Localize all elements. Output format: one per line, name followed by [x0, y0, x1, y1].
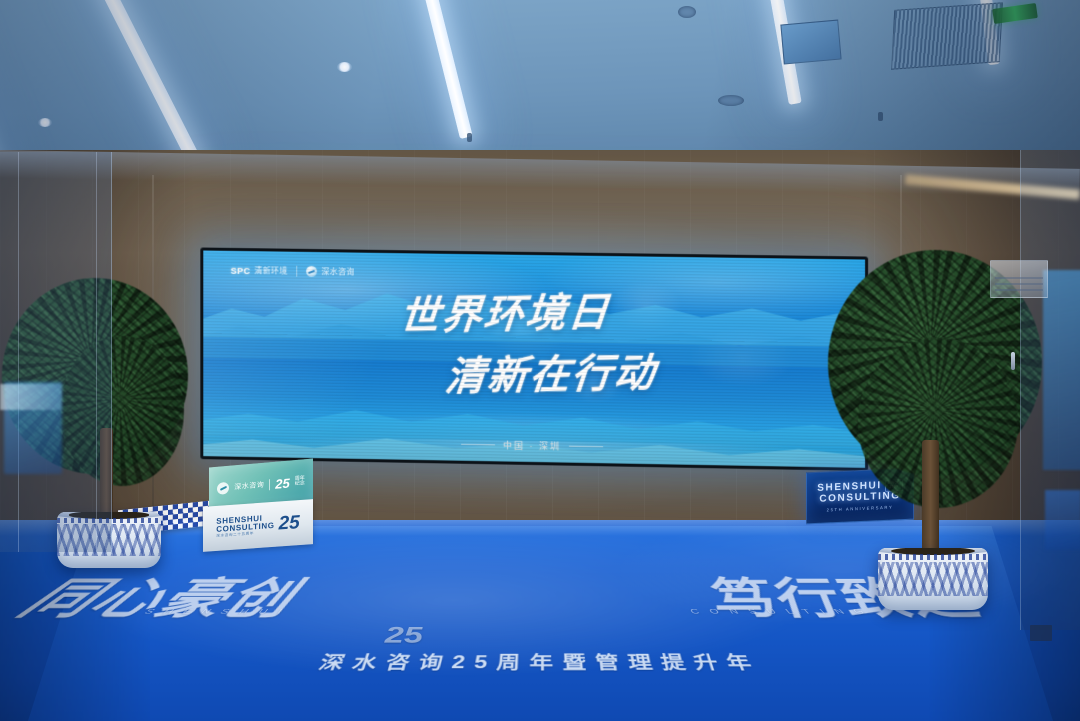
door-handle-icon[interactable] [1011, 352, 1015, 370]
screen-headline-line-2: 清新在行动 [443, 340, 659, 402]
lobby-scene: SPC 清新环境 深水咨询 世界环境日 清新在行动 中国 · 深圳 [0, 0, 1080, 721]
podium-left[interactable]: 深水咨询 25 周年 纪念 SHENSHUI CONSULTING 深水咨询二十… [203, 463, 313, 545]
podium-left-brand-cn: 深水咨询 [234, 480, 264, 493]
wall-plaque [990, 260, 1048, 298]
glass-partition-left [0, 152, 112, 552]
planter-right-soil [891, 548, 975, 555]
subtitle-rule-left [461, 443, 495, 445]
glass-left-highlight [0, 384, 62, 410]
screen-headline-line-1: 世界环境日 [397, 279, 613, 341]
led-screen-content: SPC 清新环境 深水咨询 世界环境日 清新在行动 中国 · 深圳 [203, 251, 865, 468]
led-video-wall[interactable]: SPC 清新环境 深水咨询 世界环境日 清新在行动 中国 · 深圳 [200, 247, 868, 471]
podium-left-base-panel: SHENSHUI CONSULTING 深水咨询二十五周年 25 [203, 499, 313, 552]
glass-left-mullion-2 [96, 152, 97, 552]
glass-left-mullion-1 [18, 152, 19, 552]
screen-headline: 世界环境日 清新在行动 [400, 280, 852, 405]
logo-shenshui-chinese: 深水咨询 [321, 267, 354, 278]
podium-left-logo-icon [217, 482, 229, 495]
door-kick-plate [1030, 625, 1052, 641]
logo-shenshui: 深水咨询 [307, 266, 355, 278]
logo-spc-mark: SPC [231, 266, 251, 276]
glass-partition-right [1020, 150, 1080, 630]
glass-right-screen-reflection [1043, 270, 1080, 470]
podium-left-small-2: 纪念 [295, 481, 305, 487]
tree-right-trunk [922, 440, 939, 555]
podium-left-divider [269, 479, 270, 490]
planter-right [878, 548, 988, 610]
screen-logo-row: SPC 清新环境 深水咨询 [231, 265, 355, 278]
glass-right-podium-reflection [1045, 490, 1080, 550]
potted-tree-right [828, 250, 1043, 580]
podium-left-base-anniversary: 25 [279, 514, 300, 533]
logo-divider [297, 266, 298, 277]
logo-spc-chinese: 清新环境 [254, 266, 287, 277]
subtitle-rule-right [569, 445, 603, 447]
screen-subtitle-text: 中国 · 深圳 [503, 438, 561, 452]
shenshui-badge-icon [307, 266, 318, 277]
logo-spc: SPC 清新环境 [231, 265, 288, 277]
podium-left-anniversary: 25 [275, 475, 289, 491]
